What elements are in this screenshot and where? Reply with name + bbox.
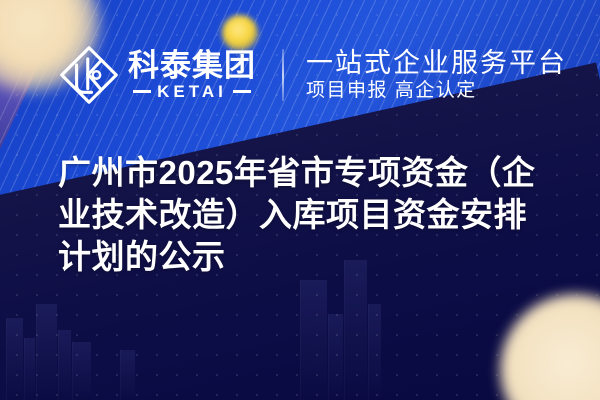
announcement-banner: 科泰集团 KETAI 一站式企业服务平台 项目申报 高企认定 广州市2025年省… bbox=[0, 0, 600, 400]
brand-header: 科泰集团 KETAI 一站式企业服务平台 项目申报 高企认定 bbox=[58, 44, 567, 106]
vertical-divider bbox=[282, 49, 284, 101]
page-title: 广州市2025年省市专项资金（企业技术改造）入库项目资金安排计划的公示 bbox=[58, 152, 558, 278]
dash-left-icon bbox=[133, 90, 151, 93]
ketai-diamond-monogram-icon bbox=[58, 44, 120, 106]
tagline-main: 一站式企业服务平台 bbox=[306, 49, 567, 77]
brand-wordmark: 科泰集团 KETAI bbox=[128, 50, 256, 101]
dash-right-icon bbox=[233, 90, 251, 93]
tagline-group: 一站式企业服务平台 项目申报 高企认定 bbox=[306, 49, 567, 100]
brand-name-en-row: KETAI bbox=[128, 83, 256, 100]
brand-name-en: KETAI bbox=[157, 83, 227, 100]
tagline-sub: 项目申报 高企认定 bbox=[306, 81, 567, 101]
brand-name-cn: 科泰集团 bbox=[128, 50, 256, 82]
